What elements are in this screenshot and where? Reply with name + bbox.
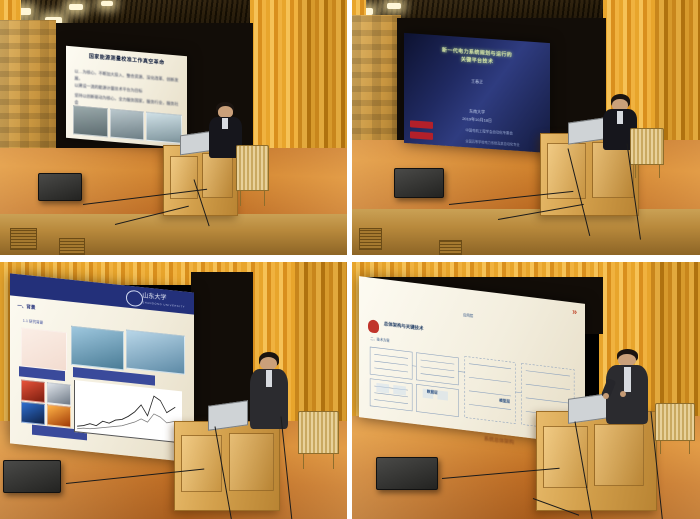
podium-panel (229, 433, 275, 491)
photo-collage: 国家能源测量校准工作真空革命 以…为核心，不断加大投入、整合资源、深化改革、创新… (0, 0, 700, 519)
floor-monitor-speaker (38, 173, 82, 201)
shirt (222, 118, 228, 129)
slide-presenter: 王春正 (419, 75, 536, 89)
slide-thumbnail (21, 379, 45, 402)
stage-apron (352, 209, 700, 255)
slide-title: 国家能源测量校准工作真空革命 (73, 53, 180, 70)
slide-thumbnail (47, 404, 71, 427)
apron-vent (439, 240, 462, 255)
slide-thumbnail (146, 111, 182, 144)
slide-thumbnail (126, 329, 185, 375)
ceiling-light (69, 4, 83, 10)
floor-monitor-speaker (376, 457, 437, 490)
chair (655, 403, 695, 441)
shirt (266, 370, 272, 387)
chair (298, 411, 338, 454)
slide-footer-1: 中国电机工程学会自动化专委会 (466, 128, 548, 139)
podium-panel (202, 153, 233, 198)
apron-vent (59, 238, 85, 255)
speaker-person (246, 352, 295, 429)
slide-thumbnail (110, 108, 145, 141)
slide-thumbnail (47, 382, 71, 405)
slide-section-label: 一、背景 (18, 302, 36, 310)
side-wall (0, 20, 56, 160)
university-name: 山东大学 (143, 290, 167, 302)
slide-diagram-label-3: 应用层 (463, 312, 473, 318)
panel-bottom-right: » 总体架构与关键技术 二、技术方案 (352, 262, 700, 519)
floor-monitor-speaker (394, 168, 445, 198)
hand-left (603, 393, 609, 400)
speaker-person (603, 349, 655, 424)
slide-thumbnail (21, 401, 45, 424)
slide-logo-badge (410, 131, 433, 140)
slide-title: 新一代电力系统规划与运行的 关键平台技术 (413, 46, 542, 70)
panel-top-left: 国家能源测量校准工作真空革命 以…为核心，不断加大投入、整合资源、深化改革、创新… (0, 0, 347, 255)
apron-vent (359, 228, 382, 250)
ceiling-light (101, 1, 113, 6)
podium-panel (594, 424, 643, 487)
slide-sub-label: 1.1 研究背景 (23, 318, 43, 325)
head (618, 354, 636, 366)
shirt (617, 111, 622, 123)
shirt (624, 367, 631, 392)
slide-logo-badge (410, 120, 433, 129)
slide-title: 总体架构与关键技术 (384, 322, 424, 333)
slide-thumbnail (71, 325, 124, 370)
panel-top-right: 新一代电力系统规划与运行的 关键平台技术 王春正 东南大学 2019年10月18… (352, 0, 700, 255)
projection-screen: 新一代电力系统规划与运行的 关键平台技术 王春正 东南大学 2019年10月18… (404, 33, 550, 153)
hand-right (620, 391, 626, 397)
slide-logo-mark (368, 320, 379, 334)
chair (236, 145, 269, 190)
ceiling-light (387, 3, 401, 9)
slide-map-thumbnail (21, 327, 67, 371)
floor-monitor-speaker (3, 460, 61, 493)
side-wall (352, 15, 401, 148)
podium-panel (181, 435, 223, 493)
chevron-right-icon: » (572, 307, 576, 317)
projection-screen: 国家能源测量校准工作真空革命 以…为核心，不断加大投入、整合资源、深化改革、创新… (66, 46, 187, 148)
podium (536, 411, 656, 511)
stage-apron (0, 214, 347, 255)
slide-thumbnail (73, 105, 108, 138)
panel-bottom-left: 山东大学 SHANDONG UNIVERSITY 一、背景 1.1 研究背景 (0, 262, 347, 519)
slide-line-chart (75, 380, 183, 443)
chair (630, 128, 663, 166)
apron-vent (10, 228, 36, 250)
projection-screen: 山东大学 SHANDONG UNIVERSITY 一、背景 1.1 研究背景 (10, 273, 194, 462)
